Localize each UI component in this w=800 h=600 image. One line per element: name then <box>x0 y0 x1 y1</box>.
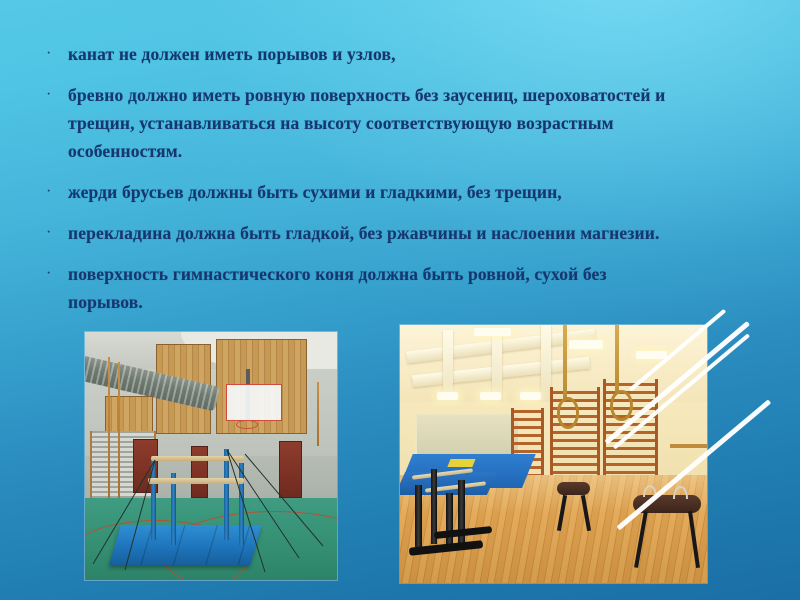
parallel-bars-post <box>458 480 465 547</box>
bullet-text-vaulting-horse: поверхность гимнастического коня должна … <box>68 260 678 316</box>
bullet-point-icon: · <box>38 81 68 109</box>
pommel-horse <box>557 482 591 495</box>
bullet-point-icon: · <box>38 219 68 247</box>
parallel-bars-post <box>446 493 453 550</box>
mat-marking <box>448 459 476 467</box>
list-item: · перекладина должна быть гладкой, без р… <box>38 219 678 247</box>
bullet-point-icon: · <box>38 178 68 206</box>
gymnastic-rings-strap <box>563 325 567 400</box>
wall-lamp <box>437 392 458 400</box>
wall-lamp <box>520 392 541 400</box>
slide-canvas: · канат не должен иметь порывов и узлов,… <box>0 0 800 600</box>
wall-lamp <box>480 392 501 400</box>
photo-scene <box>85 332 337 580</box>
bullet-point-icon: · <box>38 40 68 68</box>
bullet-text-horizontal-bar: перекладина должна быть гладкой, без ржа… <box>68 219 678 247</box>
parallel-bars-post <box>415 485 422 547</box>
bullet-text-beam: бревно должно иметь ровную поверхность б… <box>68 81 678 165</box>
decorative-streaks <box>600 280 800 600</box>
list-item: · поверхность гимнастического коня должн… <box>38 260 678 316</box>
support-cables <box>85 332 337 580</box>
list-item: · жерди брусьев должны быть сухими и гла… <box>38 178 678 206</box>
streak-line <box>604 321 750 444</box>
bullet-text-bars: жерди брусьев должны быть сухими и гладк… <box>68 178 678 206</box>
ceiling-lamp <box>474 328 511 336</box>
streak-line <box>616 399 771 530</box>
ceiling-lamp <box>569 340 603 348</box>
bullet-text-rope: канат не должен иметь порывов и узлов, <box>68 40 678 68</box>
gym-photo-uneven-bars <box>85 332 337 580</box>
bullet-list: · канат не должен иметь порывов и узлов,… <box>38 40 678 329</box>
list-item: · бревно должно иметь ровную поверхность… <box>38 81 678 165</box>
list-item: · канат не должен иметь порывов и узлов, <box>38 40 678 68</box>
bullet-point-icon: · <box>38 260 68 288</box>
ceiling-beam <box>443 330 453 413</box>
